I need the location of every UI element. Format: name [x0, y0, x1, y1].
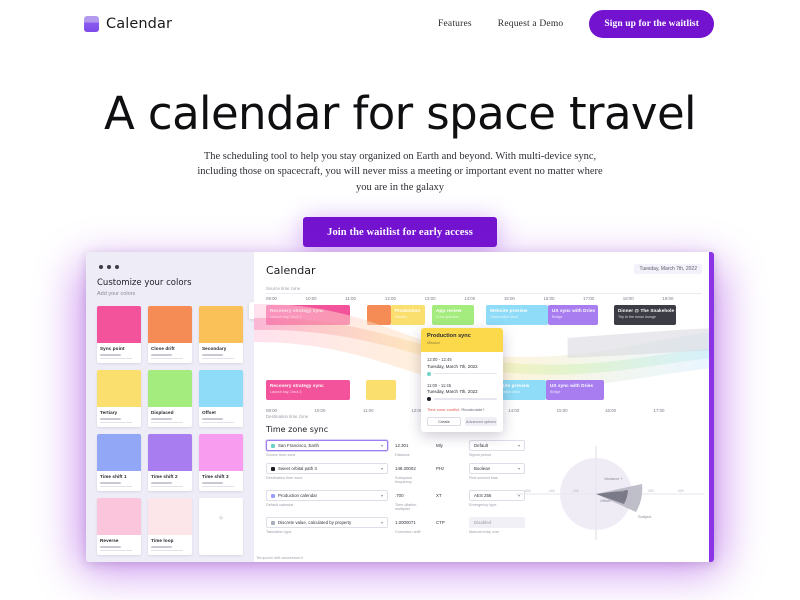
event-subtitle: Launch bay, Deck 3 — [270, 390, 346, 394]
color-swatch-card[interactable]: Tertiary — [97, 370, 141, 427]
unit-value: PHz — [436, 463, 462, 474]
swatch-line — [202, 486, 234, 488]
axis-tick-label: 10:00 — [306, 296, 346, 301]
select-value: Default — [474, 443, 488, 448]
color-swatch-card[interactable]: Time shift 1 — [97, 434, 141, 491]
status-square-icon — [271, 521, 275, 525]
popup-start-time: 12:00 - 12:45 — [427, 357, 497, 362]
brand-logo[interactable]: Calendar — [84, 16, 172, 32]
calendar-header: Calendar Tuesday, March 7th, 2022 — [266, 264, 702, 277]
popup-actions: Create Advanced options — [427, 417, 497, 426]
swatch-meta: Time loop — [148, 535, 192, 555]
timezone-value: San Francisco, Earth — [278, 443, 319, 448]
swatch-meta: Time shift 1 — [97, 471, 141, 491]
calendar-event[interactable]: App reviewCrew quarters — [432, 305, 474, 325]
event-subtitle: Bridge — [550, 390, 600, 394]
event-subtitle: Bridge — [552, 315, 594, 319]
chevron-down-icon: ▾ — [381, 466, 383, 471]
swatch-line — [151, 422, 183, 424]
unit-field: CTP — [436, 517, 462, 528]
event-title: Recovery strategy sync — [270, 383, 346, 388]
numeric-value: 1.0000071 — [395, 517, 429, 528]
popup-header: Production sync Mission — [421, 328, 503, 352]
slider-rail-start — [434, 373, 497, 375]
timezone-input[interactable]: Discrete value, calculated by property▾ — [266, 517, 388, 528]
calendar-event[interactable]: UX sync with DriesBridge — [546, 380, 604, 400]
swatch-line — [202, 354, 223, 356]
color-swatch-card[interactable]: Close drift — [148, 306, 192, 363]
chart-annotation-offset: Offset — [600, 498, 611, 503]
swatch-chip — [199, 306, 243, 343]
field-hint: Default calendar — [266, 503, 388, 507]
svg-text:-200: -200 — [572, 489, 579, 493]
event-subtitle: Observation deck — [490, 315, 544, 319]
event-title: Dinner @ The Snakehole Lo... — [618, 308, 672, 313]
swatch-name: Time shift 3 — [202, 474, 240, 479]
timeline-axis-top: 09:0010:0011:0012:0013:0014:0015:0016:00… — [266, 293, 702, 301]
swatch-line — [151, 354, 172, 356]
colors-sidebar: Customize your colors Add your colors Sy… — [86, 252, 254, 562]
axis-tick-label: 09:00 — [266, 296, 306, 301]
event-title: Recovery strategy sync — [270, 308, 346, 313]
event-title: App review — [436, 308, 470, 313]
axis-tick-label: 13:00 — [425, 296, 465, 301]
timezone-field[interactable]: San Francisco, Earth▾Source time zone — [266, 440, 388, 457]
timezone-value: Discrete value, calculated by property — [278, 520, 351, 525]
axis-tick-label: 18:00 — [623, 296, 663, 301]
swatch-chip — [97, 434, 141, 471]
swatch-meta: Sync point — [97, 343, 141, 363]
swatch-meta: Secondary — [199, 343, 243, 363]
calendar-event[interactable]: Recovery strategy syncLaunch bay, Deck 3 — [266, 380, 350, 400]
swatch-chip — [97, 498, 141, 535]
color-swatch-card[interactable]: Offset — [199, 370, 243, 427]
field-hint: Subspace frequency — [395, 476, 429, 484]
color-swatch-card[interactable]: Sync point — [97, 306, 141, 363]
product-screenshot: Customize your colors Add your colors Sy… — [86, 252, 714, 562]
swatch-line — [100, 550, 132, 552]
swatch-chip — [199, 434, 243, 471]
unit-value: XT — [436, 490, 462, 501]
event-title: UX sync with Dries — [550, 383, 600, 388]
popup-title: Production sync — [427, 333, 497, 339]
swatch-name: Time loop — [151, 538, 189, 543]
calendar-event[interactable]: Dinner @ The Snakehole Lo...Trip to the … — [614, 305, 676, 325]
brand-name: Calendar — [106, 16, 172, 32]
swatch-line — [202, 358, 234, 360]
swatch-chip — [148, 434, 192, 471]
chart-annotation-variance: Variance + — [604, 476, 624, 481]
axis-tick-label: 17:00 — [654, 408, 702, 413]
swatch-name: Secondary — [202, 346, 240, 351]
unit-value: CTP — [436, 517, 462, 528]
field-hint: Tabulation type — [266, 530, 388, 534]
swatch-meta: Offset — [199, 407, 243, 427]
color-swatch-card[interactable]: Secondary — [199, 306, 243, 363]
axis-tick-label: 14:00 — [464, 296, 504, 301]
chevron-down-icon: ▾ — [381, 520, 383, 525]
calendar-title: Calendar — [266, 264, 315, 277]
calendar-pane: Calendar Tuesday, March 7th, 2022 Source… — [254, 252, 714, 562]
nav-link-request-demo[interactable]: Request a Demo — [498, 19, 564, 29]
calendar-event[interactable] — [366, 380, 396, 400]
color-swatch-card[interactable]: Time shift 2 — [148, 434, 192, 491]
swatch-chip — [148, 306, 192, 343]
popup-end-time: 11:00 - 11:45 — [427, 383, 497, 388]
popup-warning-text: Time zone conflict. — [427, 407, 460, 412]
join-waitlist-button[interactable]: Join the waitlist for early access — [303, 217, 497, 247]
top-navigation: Calendar Features Request a Demo Sign up… — [0, 0, 800, 48]
axis-tick-label: 11:00 — [345, 296, 385, 301]
calendar-event[interactable]: Website previewObservation deck — [486, 305, 548, 325]
chevron-down-icon: ▾ — [381, 443, 383, 448]
swatch-chip — [97, 306, 141, 343]
axis-tick-label: 12:00 — [385, 296, 425, 301]
hero-subtitle: The scheduling tool to help you stay org… — [194, 149, 606, 196]
swatch-chip — [97, 370, 141, 407]
svg-text:600: 600 — [678, 489, 684, 493]
calendar-track-top: Recovery strategy syncLaunch bay, Deck 3… — [266, 305, 702, 328]
swatch-line — [202, 482, 223, 484]
swatch-meta: Reverse — [97, 535, 141, 555]
numeric-field[interactable]: 12.301Distance — [395, 440, 429, 457]
axis-tick-label: 14:00 — [508, 408, 556, 413]
swatch-chip — [199, 498, 243, 535]
timezone-value: Sweet orbital path 3 — [278, 466, 317, 471]
calendar-event[interactable] — [367, 305, 391, 325]
swatch-name: Tertiary — [100, 410, 138, 415]
calendar-event[interactable]: ProductionMission — [391, 305, 425, 325]
numeric-value: 12.301 — [395, 440, 429, 451]
swatch-name: Reverse — [100, 538, 138, 543]
timezone-field[interactable]: Discrete value, calculated by property▾T… — [266, 517, 388, 534]
sidebar-title: Customize your colors — [97, 278, 243, 288]
calendar-event[interactable]: UX sync with DriesBridge — [548, 305, 598, 325]
slider-knob-end[interactable] — [427, 397, 431, 401]
slider-rail-end — [434, 398, 497, 400]
color-swatch-card[interactable]: Reverse — [97, 498, 141, 555]
axis-tick-label: 16:00 — [543, 296, 583, 301]
swatch-line — [151, 550, 183, 552]
swatch-line — [151, 486, 183, 488]
popup-end-date: Tuesday, March 7th, 2022 — [427, 389, 497, 394]
popup-end-slider[interactable] — [427, 397, 497, 401]
popup-start-date: Tuesday, March 7th, 2022 — [427, 364, 497, 369]
swatch-meta: Close drift — [148, 343, 192, 363]
unit-value: Mly — [436, 440, 462, 451]
field-hint: Time dilation multiplier — [395, 503, 429, 511]
swatch-name: Time shift 2 — [151, 474, 189, 479]
swatch-line — [100, 418, 121, 420]
signup-waitlist-button[interactable]: Sign up for the waitlist — [589, 10, 714, 38]
swatch-meta: Displaced — [148, 407, 192, 427]
swatch-line — [202, 418, 223, 420]
timezone-value: Production calendar — [278, 493, 317, 498]
swatch-line — [151, 418, 172, 420]
status-square-icon — [271, 444, 275, 448]
accent-rail — [709, 252, 714, 562]
calendar-event[interactable]: Recovery strategy syncLaunch bay, Deck 3 — [266, 305, 350, 325]
popup-start-slider[interactable] — [427, 372, 497, 376]
swatch-line — [100, 482, 121, 484]
event-subtitle: Launch bay, Deck 3 — [270, 315, 346, 319]
unit-field: PHz — [436, 463, 462, 474]
event-title: UX sync with Dries — [552, 308, 594, 313]
timezone-field[interactable]: Production calendar▾Default calendar — [266, 490, 388, 507]
swatch-line — [100, 486, 132, 488]
field-hint: Correction shift — [395, 530, 429, 534]
swatch-line — [151, 482, 172, 484]
svg-text:200: 200 — [618, 489, 624, 493]
swatch-name: Sync point — [100, 346, 138, 351]
unit-field: Mly — [436, 440, 462, 451]
timezone-input[interactable]: Sweet orbital path 3▾ — [266, 463, 388, 474]
swatch-meta: Time shift 2 — [148, 471, 192, 491]
nav-links: Features Request a Demo Sign up for the … — [438, 10, 714, 38]
nav-link-features[interactable]: Features — [438, 19, 472, 29]
event-detail-popup: Production sync Mission 12:00 - 12:45 Tu… — [421, 328, 503, 432]
color-swatch-grid: Sync pointClose driftSecondaryTertiaryDi… — [97, 306, 243, 555]
color-swatch-card[interactable]: Time shift 3 — [199, 434, 243, 491]
field-hint: Distance — [395, 453, 429, 457]
swatch-meta: Tertiary — [97, 407, 141, 427]
axis-tick-label: 11:00 — [363, 408, 411, 413]
source-timezone-label: Source time zone — [266, 286, 702, 291]
swatch-chip — [199, 370, 243, 407]
popup-subtitle: Mission — [427, 341, 497, 345]
add-color-card[interactable] — [199, 498, 243, 555]
calendar-date-picker[interactable]: Tuesday, March 7th, 2022 — [634, 264, 702, 274]
hero-section: A calendar for space travel The scheduli… — [0, 90, 800, 247]
unit-field: XT — [436, 490, 462, 501]
swatch-chip — [148, 498, 192, 535]
swatch-line — [100, 422, 132, 424]
axis-tick-label: 15:00 — [504, 296, 544, 301]
field-hint: Destination time zone — [266, 476, 388, 480]
popup-body: 12:00 - 12:45 Tuesday, March 7th, 2022 1… — [421, 352, 503, 432]
color-swatch-card[interactable]: Displaced — [148, 370, 192, 427]
window-dots — [99, 265, 243, 269]
chevron-down-icon: ▾ — [381, 493, 383, 498]
color-swatch-card[interactable]: Time loop — [148, 498, 192, 555]
slider-knob-start[interactable] — [427, 372, 431, 376]
calendar-logo-icon — [84, 16, 99, 32]
timezone-input[interactable]: San Francisco, Earth▾ — [266, 440, 388, 451]
swatch-meta: Time shift 3 — [199, 471, 243, 491]
event-title: Production — [395, 308, 421, 313]
axis-tick-label: 15:00 — [557, 408, 605, 413]
event-title: Website preview — [490, 308, 544, 313]
axis-tick-label: 19:00 — [662, 296, 702, 301]
sidebar-subtitle: Add your colors — [97, 291, 243, 297]
event-subtitle: Crew quarters — [436, 315, 470, 319]
window-dot-close[interactable] — [99, 265, 103, 269]
select-value: AES 256 — [474, 493, 491, 498]
swatch-line — [100, 358, 132, 360]
numeric-field[interactable]: 1.0000071Correction shift — [395, 517, 429, 534]
window-dot-minimize[interactable] — [107, 265, 111, 269]
swatch-line — [100, 546, 121, 548]
swatch-name: Time shift 1 — [100, 474, 138, 479]
axis-tick-label: 17:00 — [583, 296, 623, 301]
field-hint: Source time zone — [266, 453, 388, 457]
swatch-chip — [148, 370, 192, 407]
timezone-field[interactable]: Sweet orbital path 3▾Destination time zo… — [266, 463, 388, 480]
event-subtitle: Mission — [395, 315, 421, 319]
svg-text:400: 400 — [648, 489, 654, 493]
svg-text:-600: -600 — [524, 489, 531, 493]
popup-advanced-options-button[interactable]: Advanced options — [465, 417, 497, 426]
page-title: A calendar for space travel — [0, 90, 800, 138]
swatch-name: Displaced — [151, 410, 189, 415]
status-square-icon — [271, 494, 275, 498]
axis-tick-label: 16:00 — [605, 408, 653, 413]
popup-create-button[interactable]: Create — [427, 417, 461, 426]
swatch-line — [151, 546, 172, 548]
swatch-line — [202, 422, 234, 424]
timezone-input[interactable]: Production calendar▾ — [266, 490, 388, 501]
popup-warning: Time zone conflict. Recalculate? — [427, 407, 497, 412]
axis-tick-label: 08:00 — [266, 408, 314, 413]
swatch-name: Offset — [202, 410, 240, 415]
axis-tick-label: 10:00 — [314, 408, 362, 413]
status-square-icon — [271, 467, 275, 471]
event-subtitle: Trip to the moon lounge — [618, 315, 672, 319]
swatch-line — [100, 354, 121, 356]
svg-text:-400: -400 — [548, 489, 555, 493]
swatch-name: Close drift — [151, 346, 189, 351]
numeric-field[interactable]: 148.30002Subspace frequency — [395, 463, 429, 484]
numeric-value: .700 — [395, 490, 429, 501]
select-value: Disabled — [474, 520, 491, 525]
swatch-line — [151, 358, 183, 360]
chart-annotation-subject: Subject — [638, 514, 652, 519]
chart-caption: Temporal drift assessment — [256, 555, 303, 560]
select-value: Boolean — [474, 466, 490, 471]
popup-warning-link[interactable]: Recalculate? — [461, 407, 484, 412]
temporal-drift-chart: Variance + Offset Subject -600-400-200 2… — [508, 440, 708, 548]
numeric-field[interactable]: .700Time dilation multiplier — [395, 490, 429, 511]
numeric-value: 148.30002 — [395, 463, 429, 474]
window-dot-maximize[interactable] — [115, 265, 119, 269]
